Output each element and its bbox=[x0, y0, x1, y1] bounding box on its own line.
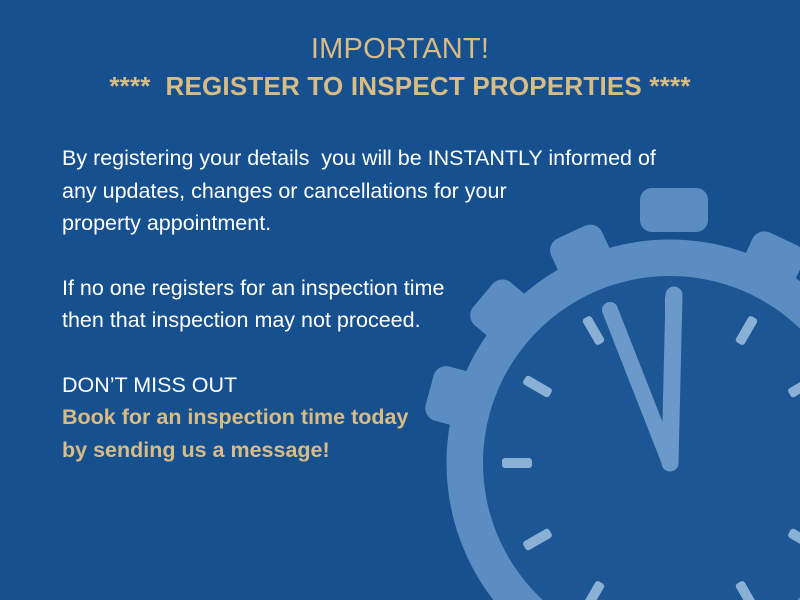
cta-line-send-message: by sending us a message! bbox=[62, 434, 722, 467]
paragraph-registering-benefits: By registering your details you will be … bbox=[62, 142, 722, 240]
headline-primary: IMPORTANT! bbox=[0, 30, 800, 68]
paragraph1-line1: By registering your details you will be … bbox=[62, 142, 722, 175]
paragraph-no-registration-warning: If no one registers for an inspection ti… bbox=[62, 272, 722, 337]
paragraph1-line2: any updates, changes or cancellations fo… bbox=[62, 175, 722, 208]
body-block: By registering your details you will be … bbox=[62, 142, 722, 466]
promotional-slide: IMPORTANT! **** REGISTER TO INSPECT PROP… bbox=[0, 0, 800, 600]
paragraph2-line2: then that inspection may not proceed. bbox=[62, 304, 722, 337]
paragraph-spacer-2 bbox=[62, 337, 722, 369]
headline-block: IMPORTANT! **** REGISTER TO INSPECT PROP… bbox=[0, 30, 800, 104]
paragraph1-line3: property appointment. bbox=[62, 207, 722, 240]
paragraph-spacer-1 bbox=[62, 240, 722, 272]
slide-content: IMPORTANT! **** REGISTER TO INSPECT PROP… bbox=[0, 0, 800, 600]
paragraph2-line1: If no one registers for an inspection ti… bbox=[62, 272, 722, 305]
cta-line-book-today: Book for an inspection time today bbox=[62, 401, 722, 434]
headline-secondary: **** REGISTER TO INSPECT PROPERTIES **** bbox=[0, 68, 800, 104]
cta-line-dont-miss-out: DON’T MISS OUT bbox=[62, 369, 722, 402]
call-to-action-block: DON’T MISS OUT Book for an inspection ti… bbox=[62, 369, 722, 467]
